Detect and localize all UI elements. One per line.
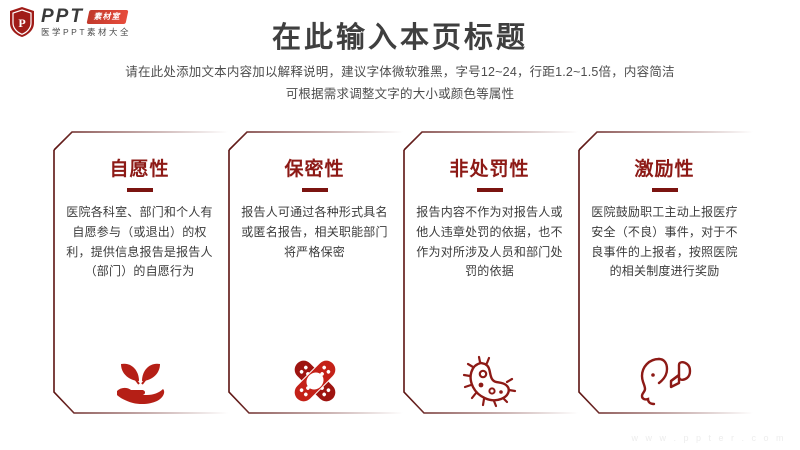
subtitle-line-2: 可根据需求调整文字的大小或颜色等属性 — [60, 84, 740, 106]
site-watermark: w w w . p p t e r . c o m — [631, 433, 786, 443]
slide-canvas: P PPT 素材室 医学PPT素材大全 在此输入本页标题 请在此处添加文本内容加… — [0, 0, 800, 450]
title-underline — [302, 188, 328, 192]
page-title: 在此输入本页标题 — [0, 14, 800, 56]
title-underline — [477, 188, 503, 192]
bandage-cross-icon — [227, 343, 402, 409]
subtitle-line-1: 请在此处添加文本内容加以解释说明，建议字体微软雅黑，字号12~24，行距1.2~… — [60, 62, 740, 84]
card-title: 自愿性 — [109, 160, 169, 179]
card-incentive[interactable]: 激励性 医院鼓励职工主动上报医疗安全（不良）事件，对于不良事件的上报者，按照医院… — [577, 130, 752, 415]
card-body: 报告人可通过各种形式具名或匿名报告，相关职能部门将严格保密 — [241, 203, 388, 262]
card-voluntary[interactable]: 自愿性 医院各科室、部门和个人有自愿参与（或退出）的权利，提供信息报告是报告人（… — [52, 130, 227, 415]
card-row: 自愿性 医院各科室、部门和个人有自愿参与（或退出）的权利，提供信息报告是报告人（… — [52, 130, 752, 415]
card-body: 医院鼓励职工主动上报医疗安全（不良）事件，对于不良事件的上报者，按照医院的相关制… — [591, 203, 738, 282]
card-confidentiality[interactable]: 保密性 报告人可通过各种形式具名或匿名报告，相关职能部门将严格保密 — [227, 130, 402, 415]
card-title: 激励性 — [634, 160, 694, 179]
hand-leaf-icon — [52, 343, 227, 409]
card-body: 报告内容不作为对报告人或他人违章处罚的依据，也不作为对所涉及人员和部门处罚的依据 — [416, 203, 563, 282]
card-non-punitive[interactable]: 非处罚性 报告内容不作为对报告人或他人违章处罚的依据，也不作为对所涉及人员和部门… — [402, 130, 577, 415]
card-title: 非处罚性 — [449, 160, 529, 179]
card-title: 保密性 — [284, 160, 344, 179]
page-subtitle: 请在此处添加文本内容加以解释说明，建议字体微软雅黑，字号12~24，行距1.2~… — [60, 62, 740, 106]
megaphone-face-icon — [577, 343, 752, 409]
bacteria-icon — [402, 343, 577, 409]
title-underline — [127, 188, 153, 192]
title-underline — [652, 188, 678, 192]
card-body: 医院各科室、部门和个人有自愿参与（或退出）的权利，提供信息报告是报告人（部门）的… — [66, 203, 213, 282]
